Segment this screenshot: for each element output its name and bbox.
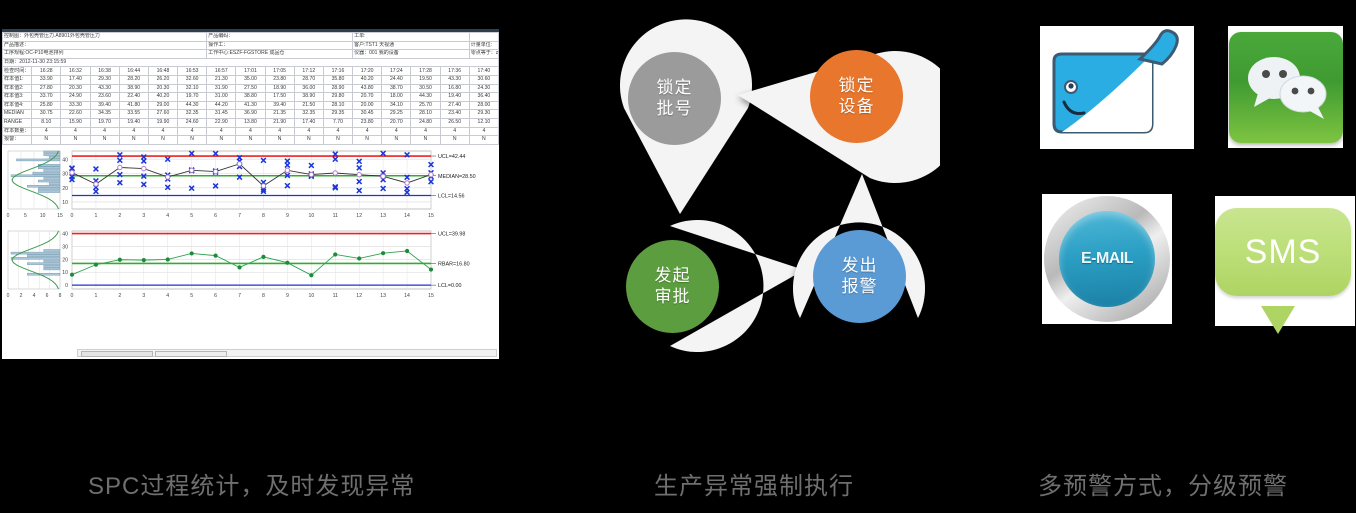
cell-count: 4 [207, 127, 236, 136]
cell-sample-4: 20.00 [353, 101, 382, 110]
cell-sample-1: 28.20 [119, 75, 148, 84]
cell-sample-1: 17.40 [61, 75, 90, 84]
svg-text:12: 12 [356, 213, 362, 219]
email-icon: E-MAIL [1044, 196, 1170, 322]
cell-count: 4 [411, 127, 440, 136]
cell-time: 16:38 [90, 67, 119, 76]
svg-text:3: 3 [142, 293, 145, 299]
cell-count: 4 [119, 127, 148, 136]
svg-text:4: 4 [166, 213, 169, 219]
cell-count: 4 [382, 127, 411, 136]
cycle-node-lock-batch[interactable]: 锁定 批号 [628, 52, 721, 145]
cycle-node-lock-device-label: 锁定 设备 [839, 76, 875, 116]
svg-text:RBAR=16.80: RBAR=16.80 [438, 261, 470, 267]
cell-median: 27.60 [148, 110, 177, 119]
cell-sample-3: 23.60 [90, 93, 119, 102]
cell-range: 12.10 [469, 118, 498, 127]
cycle-node-lock-device[interactable]: 锁定 设备 [810, 50, 903, 143]
cell-sample-1: 35.00 [236, 75, 265, 84]
cell-sample-1: 35.80 [323, 75, 352, 84]
table-row: 样本值4:25.8033.3039.4041.8029.0044.3044.20… [3, 101, 499, 110]
cell-count: 4 [265, 127, 294, 136]
svg-text:10: 10 [40, 213, 46, 219]
svg-text:UCL=42.44: UCL=42.44 [438, 154, 465, 160]
svg-text:7: 7 [238, 293, 241, 299]
cell-sample-3: 22.40 [119, 93, 148, 102]
cell-sample-3: 19.40 [440, 93, 469, 102]
svg-text:15: 15 [428, 293, 434, 299]
cell-range: 17.40 [294, 118, 323, 127]
cell-sample-1: 28.70 [294, 75, 323, 84]
cell-alarm: N [32, 136, 61, 145]
svg-text:10: 10 [308, 213, 314, 219]
cell-sample-2: 36.00 [294, 84, 323, 93]
svg-text:3: 3 [142, 213, 145, 219]
cell-range: 13.80 [236, 118, 265, 127]
cell-range: 8.10 [32, 118, 61, 127]
row-label-range: RANGE [3, 118, 32, 127]
cell-alarm: N [469, 136, 498, 145]
cell-alarm: N [207, 136, 236, 145]
row-label-count: 样本数量： [3, 127, 32, 136]
table-row: 样本数量：4444444444444444 [3, 127, 499, 136]
svg-text:2: 2 [20, 293, 23, 299]
cell-sample-2: 18.90 [265, 84, 294, 93]
cell-median: 36.90 [236, 110, 265, 119]
cell-alarm: N [265, 136, 294, 145]
cell-time: 16:57 [207, 67, 236, 76]
sms-tile[interactable]: SMS [1215, 196, 1355, 326]
sms-icon: SMS [1215, 208, 1351, 296]
svg-text:14: 14 [404, 293, 410, 299]
cell-time: 17:05 [265, 67, 294, 76]
svg-text:4: 4 [166, 293, 169, 299]
cell-range: 15.90 [61, 118, 90, 127]
cell-sample-4: 41.80 [119, 101, 148, 110]
cell-alarm: N [61, 136, 90, 145]
svg-text:0: 0 [71, 213, 74, 219]
cell-sample-1: 33.90 [32, 75, 61, 84]
cell-alarm: N [178, 136, 207, 145]
spc-header-cell: 零点等于：zero [469, 50, 498, 59]
cell-time: 17:16 [323, 67, 352, 76]
cell-sample-3: 17.50 [265, 93, 294, 102]
svg-text:15: 15 [428, 213, 434, 219]
cell-sample-1: 23.80 [265, 75, 294, 84]
cell-count: 4 [294, 127, 323, 136]
cell-alarm: N [353, 136, 382, 145]
spc-header-cell: 仪器：001 我的设备 [353, 50, 470, 59]
median-chart-block: 102030400123456789101112131415MEDIANUCL=… [2, 145, 499, 223]
wechat-icon [1229, 32, 1343, 143]
cell-sample-1: 30.60 [469, 75, 498, 84]
svg-text:10: 10 [62, 200, 68, 206]
cell-range: 20.70 [382, 118, 411, 127]
svg-text:13: 13 [380, 213, 386, 219]
spc-header-cell [469, 33, 498, 42]
scrollbar-thumb[interactable] [81, 351, 153, 357]
cell-sample-3: 38.80 [236, 93, 265, 102]
svg-text:15: 15 [57, 213, 63, 219]
svg-text:12: 12 [356, 293, 362, 299]
cell-time: 16:53 [178, 67, 207, 76]
range-control-chart: 0102030400123456789101112131415RANGEUCL=… [2, 223, 499, 303]
svg-text:14: 14 [404, 213, 410, 219]
cell-sample-3: 36.40 [469, 93, 498, 102]
cell-sample-4: 39.40 [90, 101, 119, 110]
cell-sample-4: 29.00 [148, 101, 177, 110]
email-tile[interactable]: E-MAIL [1042, 194, 1172, 324]
cell-sample-1: 24.40 [382, 75, 411, 84]
cell-sample-2: 24.30 [469, 84, 498, 93]
svg-text:4: 4 [33, 293, 36, 299]
cell-sample-2: 43.80 [353, 84, 382, 93]
svg-text:8: 8 [262, 293, 265, 299]
median-control-chart: 102030400123456789101112131415MEDIANUCL=… [2, 145, 499, 223]
cell-alarm: N [294, 136, 323, 145]
table-row: 样本值3:33.7024.9023.6022.4040.2019.7031.00… [3, 93, 499, 102]
spc-header-row: 产品描述：操作工：客户:TST1 天视通计量单位: [3, 41, 499, 50]
spc-header-cell: 工序规程:OC-P10电池排列 [3, 50, 207, 59]
cell-sample-3: 31.00 [207, 93, 236, 102]
cell-sample-2: 30.50 [411, 84, 440, 93]
row-label-alarm: 报警： [3, 136, 32, 145]
svg-text:2: 2 [118, 293, 121, 299]
cell-time: 16:48 [148, 67, 177, 76]
spc-header-cell: 工单: [353, 33, 470, 42]
cell-sample-2: 38.90 [119, 84, 148, 93]
svg-text:6: 6 [214, 293, 217, 299]
cell-sample-2: 27.80 [32, 84, 61, 93]
svg-text:0: 0 [71, 293, 74, 299]
svg-text:40: 40 [62, 157, 68, 163]
caption-right: 多预警方式，分级预警 [1038, 466, 1288, 501]
cell-sample-2: 31.90 [207, 84, 236, 93]
cell-sample-2: 38.70 [382, 84, 411, 93]
cell-sample-3: 40.20 [148, 93, 177, 102]
svg-text:20: 20 [62, 185, 68, 191]
cell-sample-3: 18.00 [382, 93, 411, 102]
cell-time: 16:32 [61, 67, 90, 76]
svg-text:9: 9 [286, 213, 289, 219]
row-label-sample-1: 样本值1: [3, 75, 32, 84]
cell-sample-2: 16.80 [440, 84, 469, 93]
sms-bubble-tail [1261, 306, 1295, 334]
cell-sample-4: 33.30 [61, 101, 90, 110]
cell-count: 4 [236, 127, 265, 136]
cell-sample-1: 21.30 [207, 75, 236, 84]
cell-time: 17:20 [353, 67, 382, 76]
cell-sample-2: 27.50 [236, 84, 265, 93]
wechat-bubbles-icon [1238, 49, 1334, 125]
cell-count: 4 [178, 127, 207, 136]
svg-text:20: 20 [62, 257, 68, 263]
cycle-node-lock-batch-label: 锁定 批号 [657, 78, 693, 118]
svg-text:2: 2 [118, 213, 121, 219]
cell-sample-4: 21.50 [294, 101, 323, 110]
cell-median: 34.35 [90, 110, 119, 119]
cell-sample-1: 40.20 [353, 75, 382, 84]
spc-date-cell: 日期：2012-11-30 23:15:59 [3, 58, 499, 67]
cell-median: 29.30 [469, 110, 498, 119]
svg-text:5: 5 [190, 293, 193, 299]
cell-median: 32.35 [178, 110, 207, 119]
cell-sample-2: 43.30 [90, 84, 119, 93]
cell-sample-1: 32.60 [178, 75, 207, 84]
cell-sample-1: 29.30 [90, 75, 119, 84]
spc-header-cell: 工作中心:ESZF-FGSTORE 成品仓 [207, 50, 353, 59]
cell-median: 30.45 [353, 110, 382, 119]
svg-text:UCL=39.98: UCL=39.98 [438, 231, 465, 237]
cell-sample-4: 28.10 [323, 101, 352, 110]
caption-center: 生产异常强制执行 [654, 466, 854, 501]
cell-time: 17:40 [469, 67, 498, 76]
svg-text:6: 6 [46, 293, 49, 299]
svg-text:11: 11 [333, 213, 338, 219]
row-label-sample-2: 样本值2: [3, 84, 32, 93]
cell-range: 23.80 [353, 118, 382, 127]
svg-text:MEDIAN=28.50: MEDIAN=28.50 [438, 173, 476, 179]
svg-text:0: 0 [65, 283, 68, 289]
cycle-node-start-approval-label: 发起 审批 [655, 266, 691, 306]
cell-range: 7.70 [323, 118, 352, 127]
svg-text:LCL=0.00: LCL=0.00 [438, 283, 462, 289]
cell-range: 19.40 [119, 118, 148, 127]
cell-sample-4: 25.70 [411, 101, 440, 110]
cell-sample-4: 41.30 [236, 101, 265, 110]
spc-header-cell: 产品描述： [3, 41, 207, 50]
cell-sample-2: 32.10 [178, 84, 207, 93]
cell-sample-3: 20.70 [353, 93, 382, 102]
svg-text:13: 13 [380, 293, 386, 299]
range-chart-block: 0102030400123456789101112131415RANGEUCL=… [2, 223, 499, 303]
cell-sample-4: 27.40 [440, 101, 469, 110]
cell-range: 19.70 [90, 118, 119, 127]
cell-sample-4: 44.30 [178, 101, 207, 110]
svg-text:0: 0 [7, 213, 10, 219]
spc-header-row: 工序规程:OC-P10电池排列工作中心:ESZF-FGSTORE 成品仓仪器：0… [3, 50, 499, 59]
email-label: E-MAIL [1059, 211, 1155, 307]
spc-header-cell: 计量单位: [469, 41, 498, 50]
cell-time: 16:28 [32, 67, 61, 76]
svg-text:8: 8 [262, 213, 265, 219]
svg-text:10: 10 [308, 293, 314, 299]
cell-range: 24.60 [178, 118, 207, 127]
cell-median: 23.40 [440, 110, 469, 119]
cell-count: 4 [440, 127, 469, 136]
table-row: 样本值2:27.8020.3043.3038.9020.3032.1031.90… [3, 84, 499, 93]
svg-text:10: 10 [62, 270, 68, 276]
alert-channel-icons: E-MAIL SMS [1030, 18, 1356, 360]
sms-label: SMS [1245, 233, 1322, 272]
cell-median: 32.35 [294, 110, 323, 119]
cell-range: 24.80 [411, 118, 440, 127]
svg-text:5: 5 [190, 213, 193, 219]
cell-count: 4 [323, 127, 352, 136]
cell-sample-2: 20.30 [61, 84, 90, 93]
cell-range: 19.90 [148, 118, 177, 127]
svg-text:5: 5 [24, 213, 27, 219]
cell-count: 4 [353, 127, 382, 136]
whale-messenger-tile[interactable] [1040, 26, 1194, 149]
cell-time: 17:28 [411, 67, 440, 76]
cell-sample-3: 29.80 [323, 93, 352, 102]
svg-text:LCL=14.56: LCL=14.56 [438, 193, 465, 199]
cell-sample-1: 43.30 [440, 75, 469, 84]
table-row: 样本值1:33.9017.4029.3028.2026.2032.6021.30… [3, 75, 499, 84]
svg-text:30: 30 [62, 244, 68, 250]
svg-text:6: 6 [214, 213, 217, 219]
whale-icon [1040, 26, 1194, 149]
row-label-time: 检查时间： [3, 67, 32, 76]
cell-sample-3: 38.90 [294, 93, 323, 102]
cell-median: 29.25 [382, 110, 411, 119]
cell-median: 29.35 [323, 110, 352, 119]
cell-alarm: N [119, 136, 148, 145]
cell-sample-2: 28.90 [323, 84, 352, 93]
cell-sample-4: 44.20 [207, 101, 236, 110]
table-row: 报警：NNNNNNNNNNNNNNNN [3, 136, 499, 145]
cell-time: 17:36 [440, 67, 469, 76]
spc-header-cell: 客户:TST1 天视通 [353, 41, 470, 50]
spc-header-cell: 产品编码： [207, 33, 353, 42]
svg-text:1: 1 [94, 293, 97, 299]
horizontal-scrollbar[interactable] [77, 349, 497, 357]
svg-text:9: 9 [286, 293, 289, 299]
spc-date-row: 日期：2012-11-30 23:15:59 [3, 58, 499, 67]
row-label-sample-4: 样本值4: [3, 101, 32, 110]
cell-median: 22.60 [61, 110, 90, 119]
cell-count: 4 [90, 127, 119, 136]
cell-median: 33.55 [119, 110, 148, 119]
cell-sample-2: 20.30 [148, 84, 177, 93]
spc-header-row: 控制图：外包壳管压力.A8901外包壳管压力产品编码：工单: [3, 33, 499, 42]
wechat-tile[interactable] [1228, 26, 1343, 148]
cell-range: 26.50 [440, 118, 469, 127]
slide-canvas: 控制图：外包壳管压力.A8901外包壳管压力产品编码：工单:产品描述：操作工：客… [0, 0, 1356, 513]
cell-count: 4 [61, 127, 90, 136]
table-row: RANGE8.1015.9019.7019.4019.9024.6022.901… [3, 118, 499, 127]
svg-text:40: 40 [62, 231, 68, 237]
svg-text:7: 7 [238, 213, 241, 219]
spc-data-table: 控制图：外包壳管压力.A8901外包壳管压力产品编码：工单:产品描述：操作工：客… [2, 32, 499, 145]
cell-alarm: N [90, 136, 119, 145]
cycle-node-raise-alarm[interactable]: 发出 报警 [813, 230, 906, 323]
cell-median: 31.45 [207, 110, 236, 119]
caption-left: SPC过程统计，及时发现异常 [88, 466, 415, 501]
cell-sample-3: 33.70 [32, 93, 61, 102]
cell-alarm: N [148, 136, 177, 145]
svg-text:11: 11 [333, 293, 338, 299]
svg-text:0: 0 [7, 293, 10, 299]
cycle-node-raise-alarm-label: 发出 报警 [842, 256, 878, 296]
table-row: 检查时间：16:2816:3216:3816:4416:4816:5316:57… [3, 67, 499, 76]
cell-sample-3: 19.70 [178, 93, 207, 102]
cell-sample-4: 39.40 [265, 101, 294, 110]
process-cycle-diagram: 锁定 批号 锁定 设备 发出 报警 发起 审批 [600, 18, 940, 360]
svg-text:1: 1 [94, 213, 97, 219]
cell-alarm: N [411, 136, 440, 145]
cell-count: 4 [469, 127, 498, 136]
row-label-median: MEDIAN [3, 110, 32, 119]
cell-sample-4: 25.80 [32, 101, 61, 110]
cell-alarm: N [382, 136, 411, 145]
cell-median: 30.75 [32, 110, 61, 119]
cell-alarm: N [236, 136, 265, 145]
cell-count: 4 [148, 127, 177, 136]
cell-range: 21.90 [265, 118, 294, 127]
cell-time: 17:01 [236, 67, 265, 76]
scrollbar-thumb-secondary[interactable] [155, 351, 227, 357]
cell-time: 16:44 [119, 67, 148, 76]
svg-text:30: 30 [62, 171, 68, 177]
cell-sample-3: 24.90 [61, 93, 90, 102]
spc-header-cell: 控制图：外包壳管压力.A8901外包壳管压力 [3, 33, 207, 42]
table-row: MEDIAN30.7522.6034.3533.5527.6032.3531.4… [3, 110, 499, 119]
cell-time: 17:12 [294, 67, 323, 76]
cycle-node-start-approval[interactable]: 发起 审批 [626, 240, 719, 333]
cell-sample-1: 19.50 [411, 75, 440, 84]
cell-sample-1: 26.20 [148, 75, 177, 84]
cell-sample-3: 44.30 [411, 93, 440, 102]
spc-header-cell: 操作工： [207, 41, 353, 50]
cell-range: 22.90 [207, 118, 236, 127]
cell-sample-4: 34.10 [382, 101, 411, 110]
cell-count: 4 [32, 127, 61, 136]
cell-alarm: N [323, 136, 352, 145]
cell-alarm: N [440, 136, 469, 145]
cell-median: 21.35 [265, 110, 294, 119]
svg-text:8: 8 [59, 293, 62, 299]
cell-time: 17:24 [382, 67, 411, 76]
row-label-sample-3: 样本值3: [3, 93, 32, 102]
spc-report-panel: 控制图：外包壳管压力.A8901外包壳管压力产品编码：工单:产品描述：操作工：客… [2, 29, 499, 359]
cell-sample-4: 28.00 [469, 101, 498, 110]
cell-median: 28.10 [411, 110, 440, 119]
